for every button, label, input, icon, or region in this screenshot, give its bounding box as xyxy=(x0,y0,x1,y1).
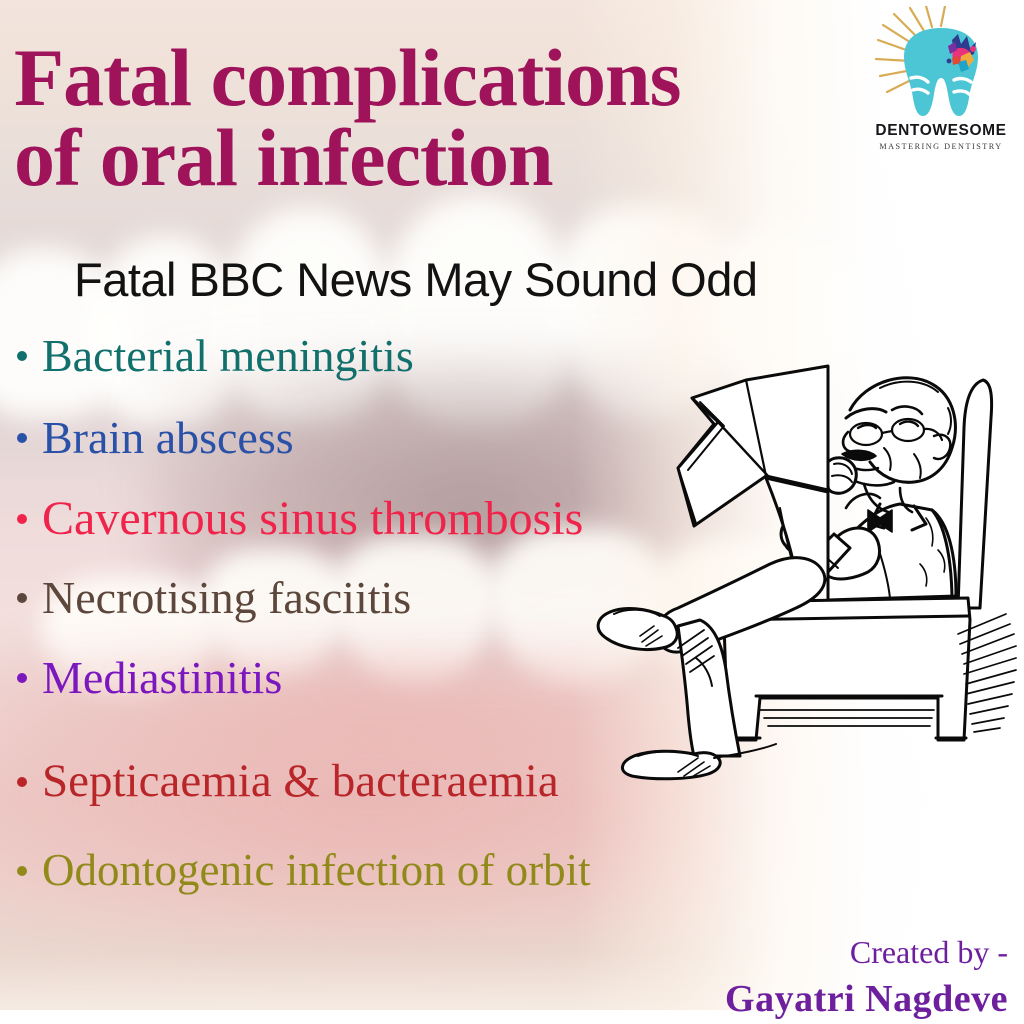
list-item-label: Mediastinitis xyxy=(42,652,282,703)
bullet-dot-icon xyxy=(17,673,27,683)
credit-author: Gayatri Nagdeve xyxy=(725,980,1008,1018)
list-item-label: Cavernous sinus thrombosis xyxy=(42,492,583,545)
title-line-2: of oral infection xyxy=(14,118,894,198)
bullet-dot-icon xyxy=(17,351,27,361)
list-item: Brain abscess xyxy=(8,415,294,461)
list-item-label: Odontogenic infection of orbit xyxy=(42,845,591,895)
page-title: Fatal complications of oral infection xyxy=(14,38,894,199)
list-item-label: Necrotising fasciitis xyxy=(42,572,411,623)
bullet-dot-icon xyxy=(17,433,27,443)
list-item: Cavernous sinus thrombosis xyxy=(8,495,583,543)
illustration-svg xyxy=(528,358,1024,782)
head xyxy=(850,378,955,483)
list-item-label: Septicaemia & bacteraemia xyxy=(42,755,559,807)
bullet-dot-icon xyxy=(17,777,27,787)
credit-prefix: Created by - xyxy=(850,936,1008,968)
shoe-lower xyxy=(622,751,720,779)
bullet-dot-icon xyxy=(17,514,27,524)
list-item: Mediastinitis xyxy=(8,655,282,701)
list-item: Necrotising fasciitis xyxy=(8,575,411,621)
list-item-label: Bacterial meningitis xyxy=(42,330,414,381)
list-item-label: Brain abscess xyxy=(42,412,294,463)
poster-canvas: DENTOWESOME MASTERING DENTISTRY Fatal co… xyxy=(0,0,1024,1024)
list-item: Bacterial meningitis xyxy=(8,333,414,379)
list-item: Odontogenic infection of orbit xyxy=(8,848,591,893)
list-item: Septicaemia & bacteraemia xyxy=(8,758,559,805)
chair-back xyxy=(958,380,992,608)
bullet-dot-icon xyxy=(17,866,27,876)
man-reading-newspaper-illustration xyxy=(528,358,1024,782)
page-subtitle: Fatal BBC News May Sound Odd xyxy=(74,256,974,303)
title-line-1: Fatal complications xyxy=(14,32,681,123)
bullet-dot-icon xyxy=(17,593,27,603)
